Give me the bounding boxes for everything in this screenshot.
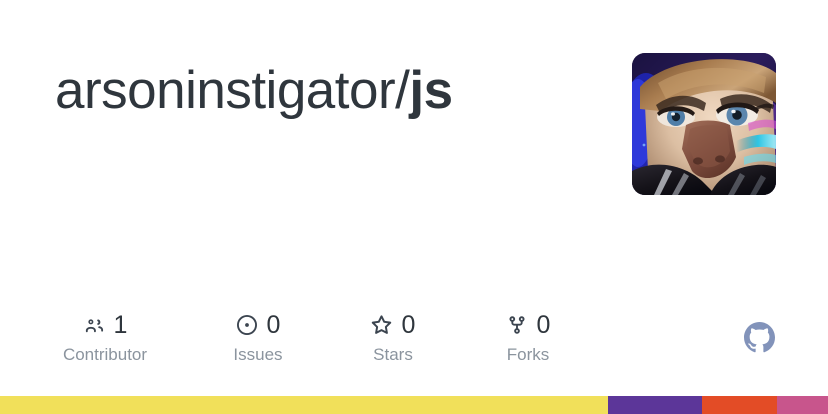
stat-issues-value: 0 <box>267 310 281 340</box>
page-title: arsoninstigator/js <box>55 58 453 124</box>
repo-forked-icon <box>506 314 528 336</box>
stat-stars-label: Stars <box>373 344 413 366</box>
stat-stars-value: 0 <box>402 310 416 340</box>
repo-name-separator: / <box>395 61 409 120</box>
language-segment-pink <box>777 396 828 414</box>
language-segment-purple <box>608 396 702 414</box>
people-icon <box>83 314 105 336</box>
language-segment-javascript <box>0 396 608 414</box>
github-mark-icon <box>744 322 775 353</box>
stat-contributors-label: Contributor <box>63 344 147 366</box>
stat-contributors-top: 1 <box>83 310 128 340</box>
stat-issues-label: Issues <box>233 344 282 366</box>
repo-stats: 1 Contributor 0 Issues <box>55 310 557 366</box>
stat-issues: 0 Issues <box>227 310 289 366</box>
stat-stars: 0 Stars <box>365 310 421 366</box>
issue-opened-icon <box>236 314 258 336</box>
star-icon <box>371 314 393 336</box>
stat-contributors-value: 1 <box>114 310 128 340</box>
stat-issues-top: 0 <box>236 310 281 340</box>
avatar <box>632 53 776 195</box>
stat-contributors: 1 Contributor <box>55 310 155 366</box>
repo-owner: arsoninstigator <box>55 61 395 120</box>
stat-forks-value: 0 <box>537 310 551 340</box>
language-segment-orange <box>702 396 777 414</box>
language-bar <box>0 396 828 414</box>
stat-forks: 0 Forks <box>499 310 557 366</box>
stat-forks-label: Forks <box>507 344 550 366</box>
repo-name: js <box>409 61 452 120</box>
avatar-photo-icon <box>632 53 776 195</box>
stat-forks-top: 0 <box>506 310 551 340</box>
stat-stars-top: 0 <box>371 310 416 340</box>
repo-social-preview-card: arsoninstigator/js <box>0 0 828 414</box>
